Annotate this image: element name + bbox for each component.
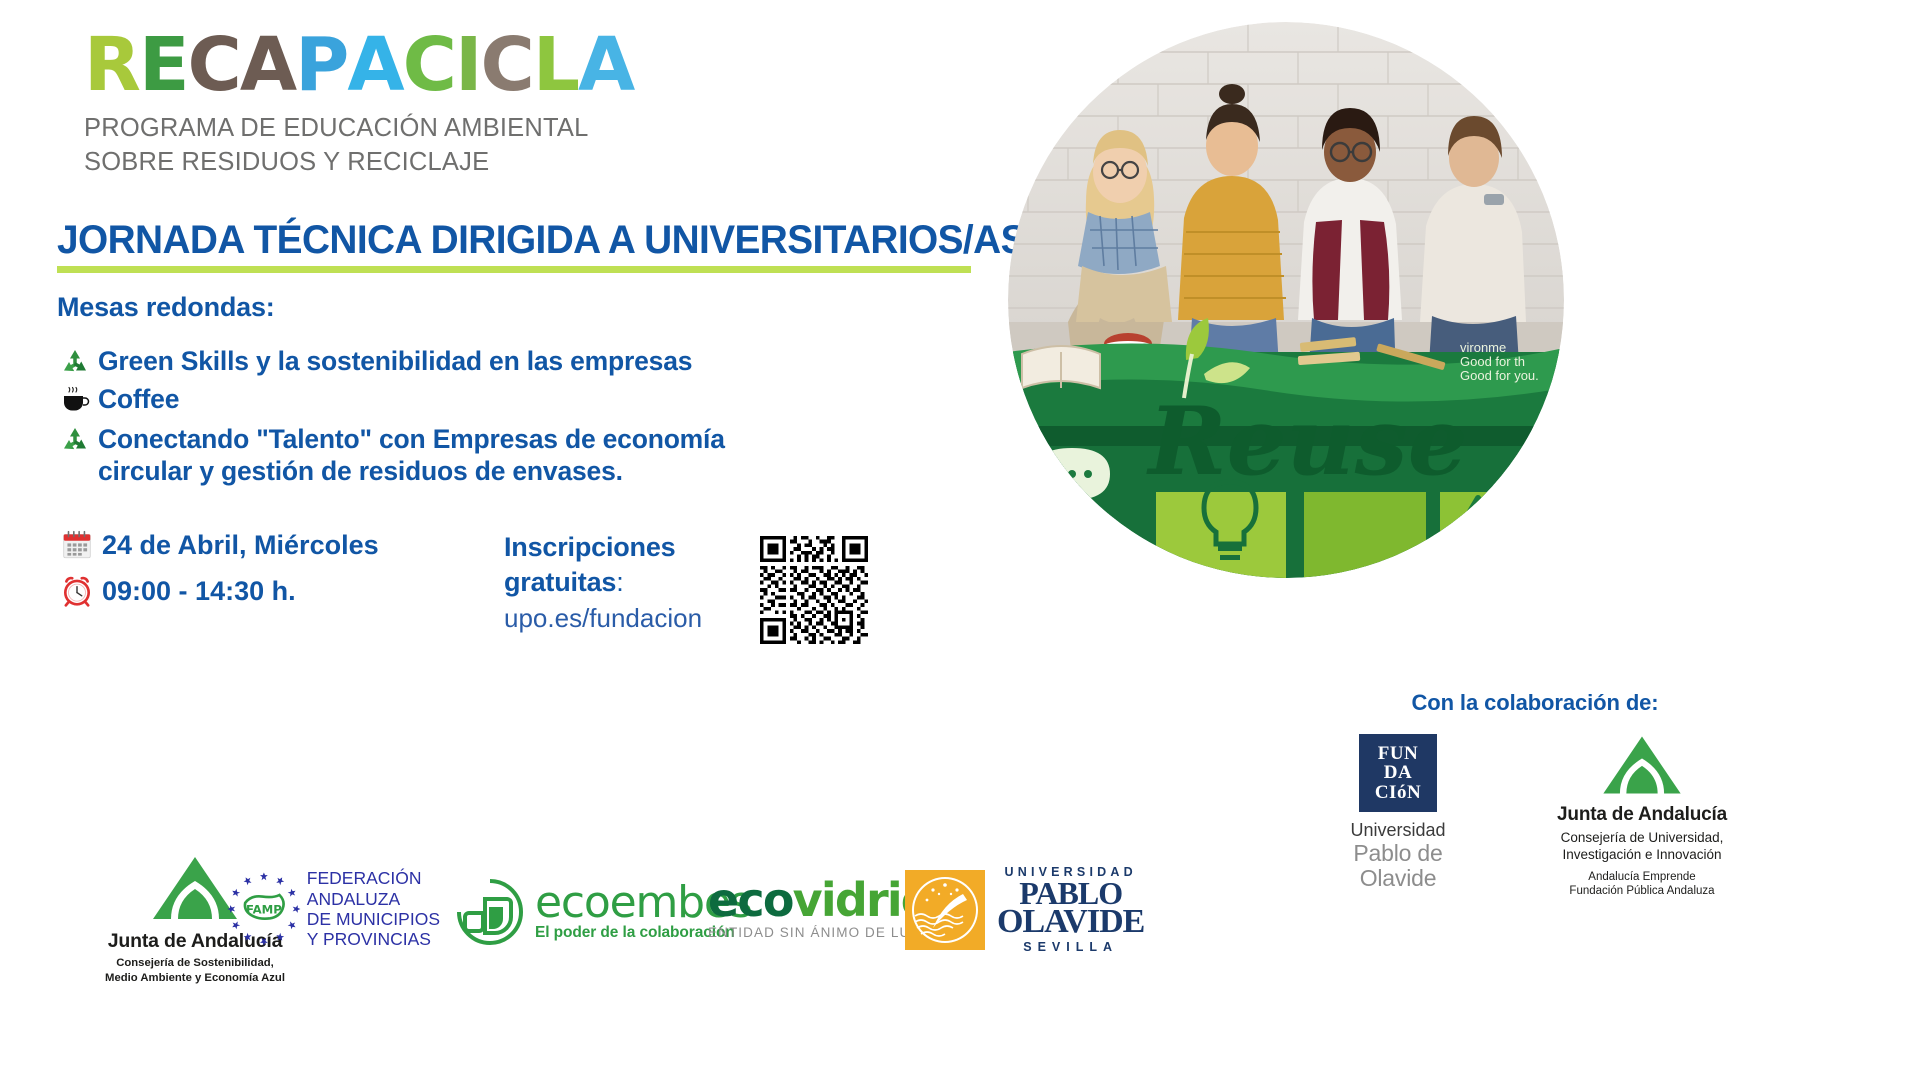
list-item-line: Green Skills y la sostenibilidad en las … [98,345,692,377]
registration-colon: : [616,567,623,597]
list-item: Green Skills y la sostenibilidad en las … [52,345,952,379]
event-date: 24 de Abril, Miércoles [102,530,379,561]
registration-url[interactable]: upo.es/fundacion [504,603,754,634]
tagline-line-2: SOBRE RESIDUOS Y RECICLAJE [84,146,644,180]
registration-block: Inscripciones gratuitas: upo.es/fundacio… [504,530,754,634]
famp-logo-text: FEDERACIÓN ANDALUZA DE MUNICIPIOS Y PROV… [307,868,440,949]
svg-text:Good for you.: Good for you. [1460,368,1539,383]
logo-letter-6: C [403,28,455,102]
coffee-icon [52,383,98,417]
footer-logo-strip: Junta de Andalucía Consejería de Sosteni… [0,855,1175,1055]
famp-logo: FAMP FEDERACIÓN ANDALUZA DE MUNICIPIOS Y… [225,863,440,955]
junta-universidad-logo: Junta de Andalucía Consejería de Univers… [1527,734,1757,899]
registration-heading: Inscripciones gratuitas: [504,530,754,599]
fundacion-mark: FUN DA CIóN [1359,734,1437,812]
upo-sevilla-text: SEVILLA [997,940,1144,954]
calendar-icon [52,528,102,562]
famp-line-1: FEDERACIÓN [307,868,440,888]
students-recycling-photo: Reuse vironme Good for th Good for you. [1008,22,1564,578]
logo-letter-4: P [295,28,347,102]
recapacicla-logo: RECAPACICLA PROGRAMA DE EDUCACIÓN AMBIEN… [84,28,644,179]
event-time-row: 09:00 - 14:30 h. [52,574,379,608]
fundacion-mark-line-3: CIóN [1375,783,1421,802]
andalucia-emprende-text: Andalucía Emprende Fundación Pública And… [1527,870,1757,900]
ecoembes-mark [455,877,525,947]
andalucia-emprende-line-1: Andalucía Emprende [1527,870,1757,885]
page-title: JORNADA TÉCNICA DIRIGIDA A UNIVERSITARIO… [57,218,1026,263]
ecovidrio-part-eco: eco [708,873,793,927]
recapacicla-wordmark: RECAPACICLA [84,28,644,102]
title-underline-rule [57,266,971,273]
famp-line-3: DE MUNICIPIOS [307,909,440,929]
fundacion-mark-line-1: FUN [1378,744,1419,763]
recycle-icon [52,345,98,379]
junta-subtitle-line-1: Consejería de Sostenibilidad, [105,956,285,971]
fundacion-mark-line-2: DA [1384,763,1412,782]
qr-code[interactable] [760,536,868,644]
upo-sun-mark [905,870,985,950]
event-schedule: 24 de Abril, Miércoles 09:00 - 14:30 h. [52,528,379,620]
ecoembes-logo: ecoembes El poder de la colaboración [455,877,751,947]
universidad-pablo-de-olavide-logo: UNIVERSIDAD PABLO OLAVIDE SEVILLA [905,865,1144,954]
logo-letter-10: A [578,28,633,102]
collaboration-title: Con la colaboración de: [1185,690,1885,716]
junta-universidad-title: Junta de Andalucía [1527,804,1757,826]
svg-text:Good for th: Good for th [1460,354,1525,369]
junta-universidad-sub-line-2: Investigación e Innovación [1527,846,1757,863]
famp-line-4: Y PROVINCIAS [307,929,440,949]
upo-olavide-text: OLAVIDE [997,907,1144,937]
junta-universidad-subtitle: Consejería de Universidad, Investigación… [1527,829,1757,864]
list-item-text: Coffee [98,383,179,415]
list-item: Conectando "Talento" con Empresas de eco… [52,423,952,488]
fundacion-caption-line-2: Pablo de Olavide [1313,841,1483,892]
junta-subtitle-line-2: Medio Ambiente y Economía Azul [105,971,285,986]
logo-letter-7: I [455,28,481,102]
registration-heading-line-2: gratuitas [504,567,616,597]
poster-word: Reuse [1146,387,1468,497]
event-time: 09:00 - 14:30 h. [102,576,296,607]
round-tables-list: Green Skills y la sostenibilidad en las … [52,345,952,494]
svg-text:vironme: vironme [1460,340,1506,355]
fundacion-upo-logo: FUN DA CIóN Universidad Pablo de Olavide [1313,734,1483,892]
list-item-text: Green Skills y la sostenibilidad en las … [98,345,692,377]
logo-letter-0: R [84,28,139,102]
logo-letter-5: A [347,28,402,102]
fundacion-caption-line-1: Universidad [1313,820,1483,841]
alarm-clock-icon [52,574,102,608]
event-date-row: 24 de Abril, Miércoles [52,528,379,562]
tagline-line-1: PROGRAMA DE EDUCACIÓN AMBIENTAL [84,112,644,146]
logo-letter-3: A [240,28,295,102]
list-item-line: Coffee [98,383,179,415]
list-item-line: circular y gestión de residuos de envase… [98,455,725,487]
famp-line-2: ANDALUZA [307,889,440,909]
list-item: Coffee [52,383,952,417]
recapacicla-tagline: PROGRAMA DE EDUCACIÓN AMBIENTAL SOBRE RE… [84,112,644,179]
list-item-line: Conectando "Talento" con Empresas de eco… [98,423,725,455]
andalucia-emprende-line-2: Fundación Pública Andaluza [1527,884,1757,899]
famp-stars-mark: FAMP [225,863,303,955]
junta-arch-mark [1596,734,1688,796]
junta-universidad-sub-line-1: Consejería de Universidad, [1527,829,1757,846]
recycle-icon [52,423,98,457]
famp-mark-text: FAMP [246,903,282,917]
logo-letter-1: E [139,28,188,102]
list-item-text: Conectando "Talento" con Empresas de eco… [98,423,725,488]
logo-letter-9: L [533,28,578,102]
collaboration-block: Con la colaboración de: FUN DA CIóN Univ… [1185,690,1885,899]
registration-heading-line-1: Inscripciones [504,532,675,562]
junta-logo-subtitle: Consejería de Sostenibilidad, Medio Ambi… [105,956,285,985]
logo-letter-8: C [481,28,533,102]
logo-letter-2: C [188,28,240,102]
section-subtitle: Mesas redondas: [57,292,275,323]
